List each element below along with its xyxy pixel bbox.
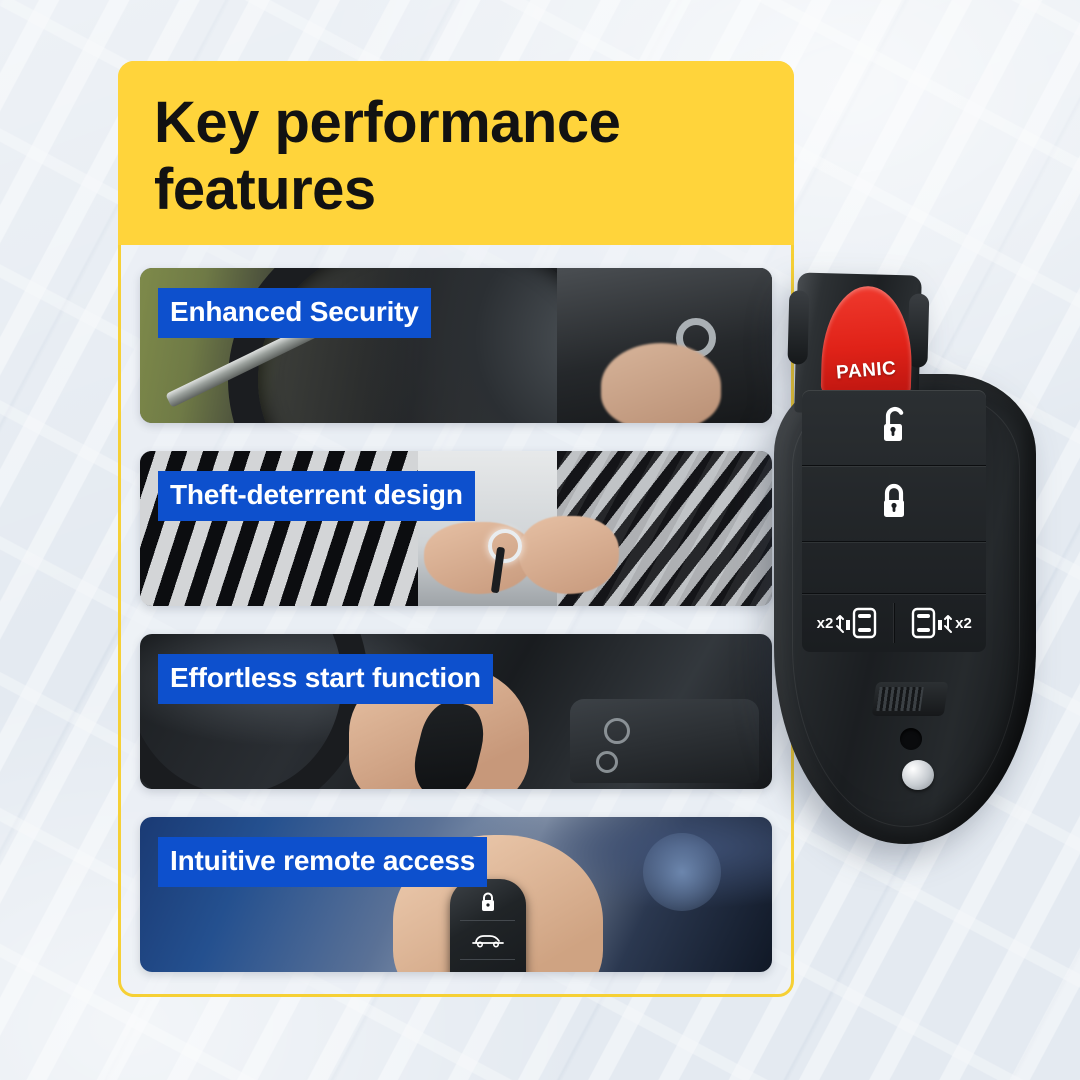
- unlock-button[interactable]: [802, 390, 986, 466]
- sliding-door-right-button[interactable]: x2: [894, 603, 986, 643]
- sliding-door-left-icon: [835, 603, 879, 643]
- smart-key-remote: [450, 879, 526, 972]
- sliding-door-left-button[interactable]: x2: [802, 603, 894, 643]
- keyring-hole: [900, 728, 922, 750]
- feature-badge-3: Intuitive remote access: [158, 837, 487, 887]
- feature-card-enhanced-security[interactable]: Enhanced Security: [140, 268, 772, 423]
- feature-card-theft-deterrent-design[interactable]: Theft-deterrent design: [140, 451, 772, 606]
- feature-card-list: Enhanced Security Theft-deterrent design: [140, 268, 772, 972]
- unlock-icon: [478, 971, 498, 972]
- hand-right: [519, 516, 619, 594]
- sliding-door-button-row: x2: [802, 594, 986, 652]
- feature-badge-0: Enhanced Security: [158, 288, 431, 338]
- lock-icon: [876, 481, 912, 525]
- console-knob-icon: [604, 718, 630, 744]
- key-fob-product-image: PANIC: [760, 252, 1080, 872]
- car-icon: [471, 932, 505, 948]
- lock-button[interactable]: [802, 466, 986, 542]
- keyring-icon: [488, 529, 522, 563]
- feature-card-intuitive-remote-access[interactable]: Intuitive remote access: [140, 817, 772, 972]
- feature-badge-1: Theft-deterrent design: [158, 471, 475, 521]
- sliding-door-left-multiplier: x2: [817, 615, 834, 632]
- slider-ridges: [876, 687, 923, 711]
- key-release-slider[interactable]: [872, 682, 949, 716]
- feature-badge-2: Effortless start function: [158, 654, 493, 704]
- panic-button-label: PANIC: [835, 358, 897, 385]
- sliding-door-right-multiplier: x2: [955, 615, 972, 632]
- driver-hand: [601, 343, 721, 423]
- page-title: Key performance features: [154, 89, 754, 224]
- feature-card-effortless-start-function[interactable]: Effortless start function: [140, 634, 772, 789]
- stem-side-grip-left: [787, 290, 809, 364]
- console-knob-icon-2: [596, 751, 618, 773]
- header-banner: Key performance features: [118, 61, 794, 245]
- panic-button[interactable]: PANIC: [821, 285, 914, 397]
- sliding-door-right-icon: [909, 603, 953, 643]
- key-fob-button-pad: x2: [802, 390, 986, 652]
- poster-canvas: Key performance features Enhanced Securi…: [0, 0, 1080, 1080]
- blank-button-row: [802, 542, 986, 594]
- center-console-controls: [570, 699, 760, 783]
- bokeh-light: [643, 833, 721, 911]
- unlock-icon: [876, 405, 912, 449]
- lock-icon: [478, 891, 498, 913]
- chrome-stud: [902, 760, 934, 790]
